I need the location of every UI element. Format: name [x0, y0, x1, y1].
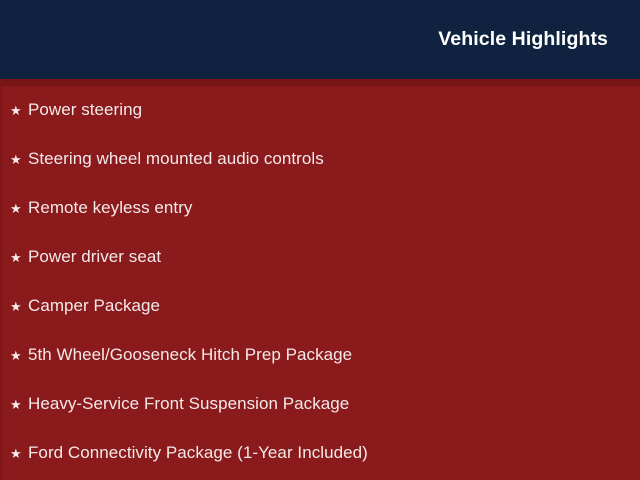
list-item-label: Heavy-Service Front Suspension Package	[28, 395, 349, 414]
page-header: Vehicle Highlights	[0, 0, 640, 79]
list-item: ★ Power driver seat	[0, 233, 640, 282]
list-item-label: Power steering	[28, 101, 142, 120]
list-item-label: Remote keyless entry	[28, 199, 192, 218]
list-item-label: Steering wheel mounted audio controls	[28, 150, 324, 169]
list-item: ★ Camper Package	[0, 282, 640, 331]
star-icon: ★	[10, 398, 28, 411]
list-item: ★ Ford Connectivity Package (1-Year Incl…	[0, 429, 640, 478]
star-icon: ★	[10, 104, 28, 117]
list-item: ★ Power steering	[0, 86, 640, 135]
list-item-label: Ford Connectivity Package (1-Year Includ…	[28, 444, 368, 463]
star-icon: ★	[10, 349, 28, 362]
list-item-label: 5th Wheel/Gooseneck Hitch Prep Package	[28, 346, 352, 365]
header-divider	[0, 79, 640, 86]
list-item: ★ Remote keyless entry	[0, 184, 640, 233]
list-item: ★ Steering wheel mounted audio controls	[0, 135, 640, 184]
star-icon: ★	[10, 447, 28, 460]
list-item-label: Camper Package	[28, 297, 160, 316]
highlights-list: ★ Power steering ★ Steering wheel mounte…	[0, 86, 640, 480]
page-title: Vehicle Highlights	[438, 30, 608, 50]
vehicle-highlights-page: Vehicle Highlights ★ Power steering ★ St…	[0, 0, 640, 480]
star-icon: ★	[10, 300, 28, 313]
list-item-label: Power driver seat	[28, 248, 161, 267]
list-item: ★ 5th Wheel/Gooseneck Hitch Prep Package	[0, 331, 640, 380]
star-icon: ★	[10, 202, 28, 215]
star-icon: ★	[10, 153, 28, 166]
list-item: ★ Heavy-Service Front Suspension Package	[0, 380, 640, 429]
star-icon: ★	[10, 251, 28, 264]
